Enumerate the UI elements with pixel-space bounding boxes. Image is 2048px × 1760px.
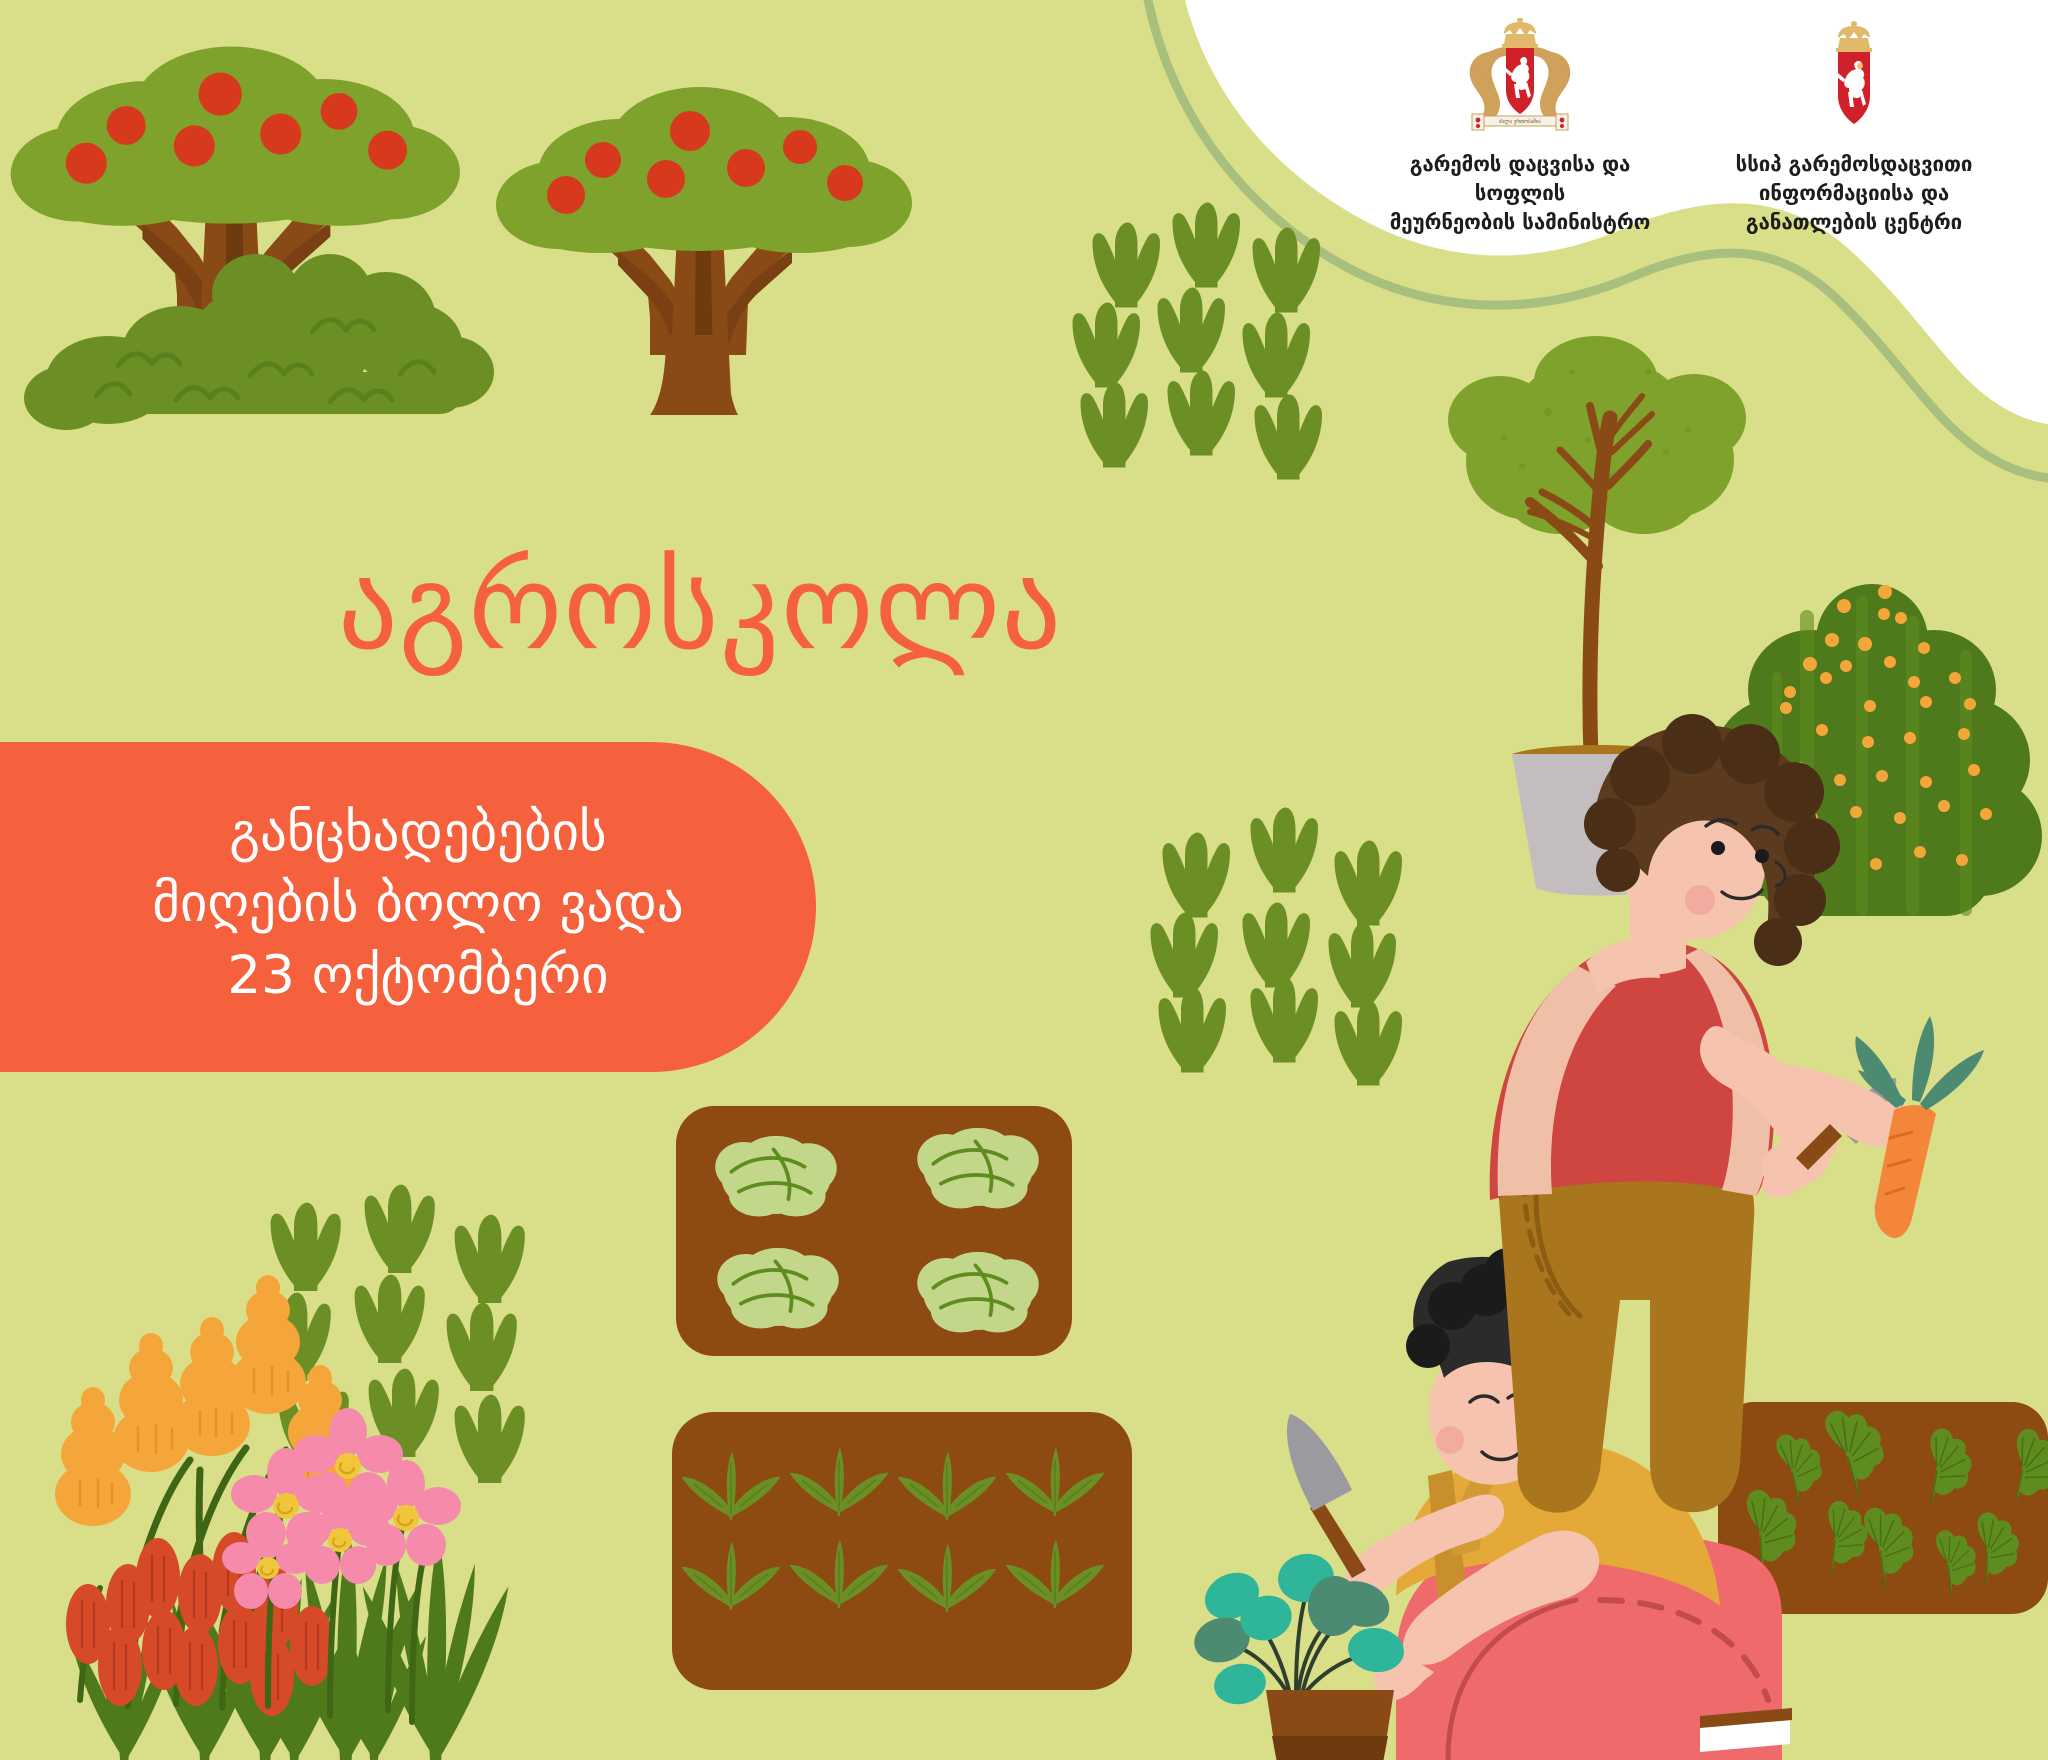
cabbage bbox=[717, 1248, 839, 1329]
cabbage-garden-bed bbox=[676, 1106, 1072, 1356]
poster-root: ძალა ერთობაშია გარემოს დაცვისა და სოფლის… bbox=[0, 0, 2048, 1760]
cabbage bbox=[917, 1252, 1039, 1333]
georgia-greater-coat-of-arms-icon: ძალა ერთობაშია bbox=[1458, 18, 1582, 136]
logo-ministry-caption: გარემოს დაცვისა და სოფლის მეურნეობის სამ… bbox=[1380, 150, 1660, 237]
flower-cluster-bottom-left bbox=[55, 1275, 508, 1760]
apple-tree-center bbox=[496, 87, 912, 415]
header-logos: ძალა ერთობაშია გარემოს დაცვისა და სოფლის… bbox=[1380, 18, 2020, 208]
logo-centre: სსიპ გარემოსდაცვითი ინფორმაციისა და განა… bbox=[1714, 18, 1994, 237]
deadline-banner-text: განცხადებების მიღების ბოლო ვადა 23 ოქტომ… bbox=[92, 797, 683, 1016]
georgia-lesser-coat-of-arms-shield-icon bbox=[1816, 18, 1892, 136]
logo-centre-caption: სსიპ გარემოსდაცვითი ინფორმაციისა და განა… bbox=[1736, 150, 1973, 237]
cabbage bbox=[715, 1136, 837, 1217]
sprout-garden-bed bbox=[672, 1412, 1132, 1690]
grass-cluster-middle bbox=[1151, 808, 1403, 1086]
cabbage bbox=[917, 1128, 1039, 1209]
hedge-bush-left bbox=[24, 254, 494, 430]
svg-text:ძალა ერთობაშია: ძალა ერთობაშია bbox=[1499, 118, 1541, 125]
deadline-banner: განცხადებების მიღების ბოლო ვადა 23 ოქტომ… bbox=[0, 742, 816, 1072]
grass-cluster-top bbox=[1073, 203, 1323, 480]
page-title: აგროსკოლა bbox=[0, 548, 1400, 666]
logo-ministry: ძალა ერთობაშია გარემოს დაცვისა და სოფლის… bbox=[1380, 18, 1660, 237]
